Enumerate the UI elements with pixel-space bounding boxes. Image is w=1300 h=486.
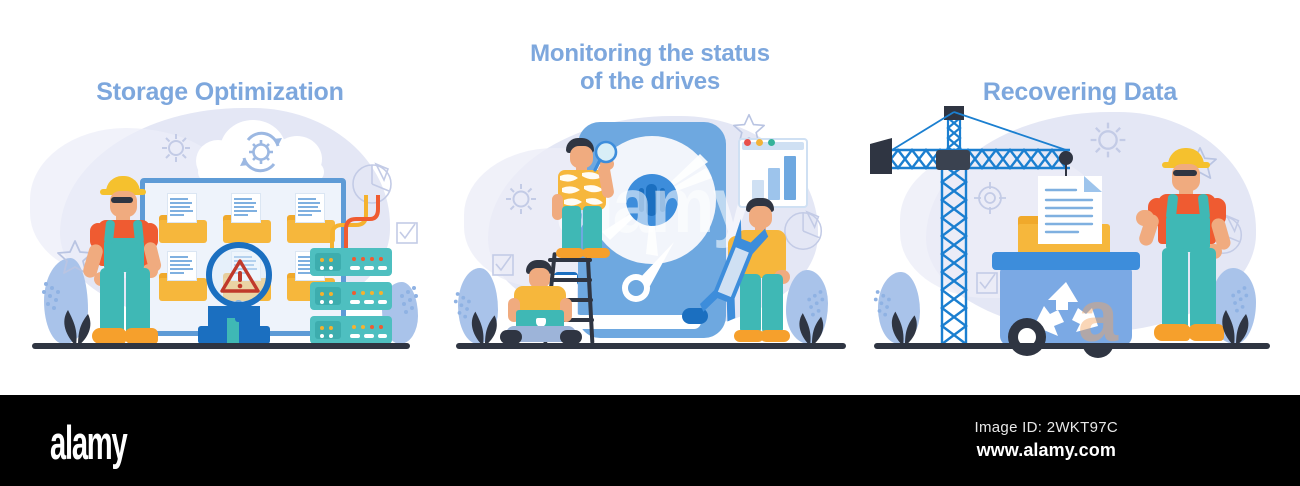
panel-recovering-data: Recovering Data [860,0,1300,370]
server-rack [310,248,392,344]
ground-line [456,343,846,349]
panel-monitoring-drives: Monitoring the status of the drives [440,0,860,370]
illustration-canvas: Storage Optimization [0,0,1300,486]
leg-left [562,206,581,252]
document [295,193,325,223]
chart-bar-1 [752,180,764,200]
leg-left [1162,248,1188,330]
person-with-laptop [500,260,584,346]
warning-triangle-icon [220,258,260,294]
bin-wheel-left [1008,318,1046,356]
panel-title-2-line1: Monitoring the status [440,40,860,68]
ground-line [874,343,1270,349]
ground-line [32,343,410,349]
plant-leaf-dark-right [790,304,832,346]
alamy-url-text: www.alamy.com [975,440,1118,461]
cloud-sync-icon [196,118,326,180]
head [529,268,550,288]
plant-leaf-dark [54,300,100,346]
foot-right [560,330,582,344]
sunglasses [111,197,133,203]
server-unit [310,248,392,276]
shoe-left [556,248,584,258]
hdd-spindle-hub-3 [660,188,665,212]
image-id-text: Image ID: 2WKT97C [975,419,1118,436]
server-unit [310,282,392,310]
panel-title-2: Monitoring the status of the drives [440,40,860,97]
sprig-icon-right [388,282,422,328]
gear-outline-icon [502,180,540,218]
leg-right [583,206,602,252]
sunglasses [1173,170,1197,176]
document [231,193,261,223]
magnifier-icon [592,140,622,174]
watermark-meta: Image ID: 2WKT97C www.alamy.com [975,419,1118,461]
panel-title-1: Storage Optimization [0,78,440,108]
chart-bar-3 [784,156,796,200]
watermark-bar: alamy Image ID: 2WKT97C www.alamy.com [0,395,1300,486]
wrench-icon [698,216,778,332]
document [167,193,197,223]
head [1172,164,1200,191]
window-dot-green [768,139,775,146]
shoe-right [124,328,158,344]
alamy-logo: alamy [50,415,126,470]
hand-left [1136,210,1154,226]
panel-title-3: Recovering Data [860,78,1300,108]
panel-title-2-line2: of the drives [440,68,860,96]
plant-leaf-dark-left [462,302,506,346]
chart-bar-2 [768,168,780,200]
shoe-left [1154,324,1190,341]
bin-lid [992,252,1140,270]
hdd-spindle-hub-2 [639,188,644,212]
shoe-right [582,248,610,258]
plant-leaf-dark-right [1212,300,1258,346]
lifted-document [1038,176,1102,244]
gear-outline-icon [1086,118,1130,162]
checkbox-outline-icon [396,222,418,244]
leg-left [100,268,124,334]
document [167,251,197,281]
leg-right [126,268,150,334]
hdd-actuator-arm [612,240,684,312]
panel-storage-optimization: Storage Optimization [0,0,440,370]
hdd-spindle-hub [646,184,657,216]
plant-leaf-dark-left [882,302,926,346]
gear-outline-icon [158,130,194,166]
window-dot-red [744,139,751,146]
window-dot-yellow [756,139,763,146]
server-unit [310,316,392,344]
